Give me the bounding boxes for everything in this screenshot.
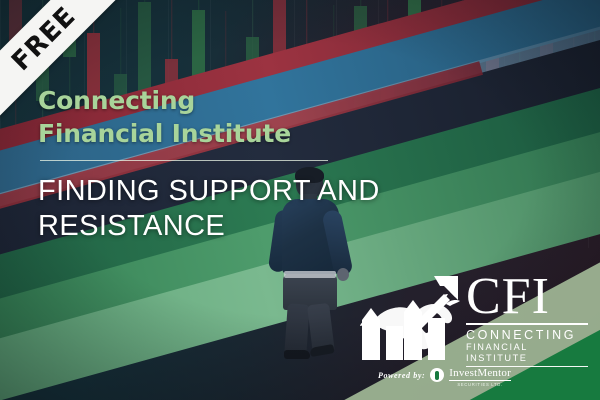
cfi-subtitle-1: CONNECTING <box>466 328 590 342</box>
cfi-wordmark: CFI CONNECTING FINANCIAL INSTITUTE <box>466 272 590 367</box>
powered-by-block: Powered by: InvestMentor SECURITIES LTD. <box>378 364 588 387</box>
partner-name: InvestMentor <box>449 368 511 381</box>
headline-line-2: RESISTANCE <box>38 209 438 244</box>
brand-name-line-2: Financial Institute <box>38 117 438 150</box>
cfi-logo: CFI CONNECTING FINANCIAL INSTITUTE Power… <box>358 268 588 386</box>
powered-by-label: Powered by: <box>378 371 425 380</box>
cfi-subtitle-2: FINANCIAL INSTITUTE <box>466 342 590 364</box>
title-divider <box>40 160 328 161</box>
investmentor-badge-icon <box>430 368 444 382</box>
cfi-acronym: CFI <box>466 272 590 322</box>
headline-line-1: FINDING SUPPORT AND <box>38 174 438 209</box>
brand-name-line-1: Connecting <box>38 84 438 117</box>
bull-bar-chart-arrow-icon <box>358 268 466 360</box>
partner-sub: SECURITIES LTD. <box>449 383 511 387</box>
partner-wordmark: InvestMentor SECURITIES LTD. <box>449 364 511 387</box>
title-block: Connecting Financial Institute FINDING S… <box>38 84 438 245</box>
promo-poster: FREE Connecting Financial Institute FIND… <box>0 0 600 400</box>
